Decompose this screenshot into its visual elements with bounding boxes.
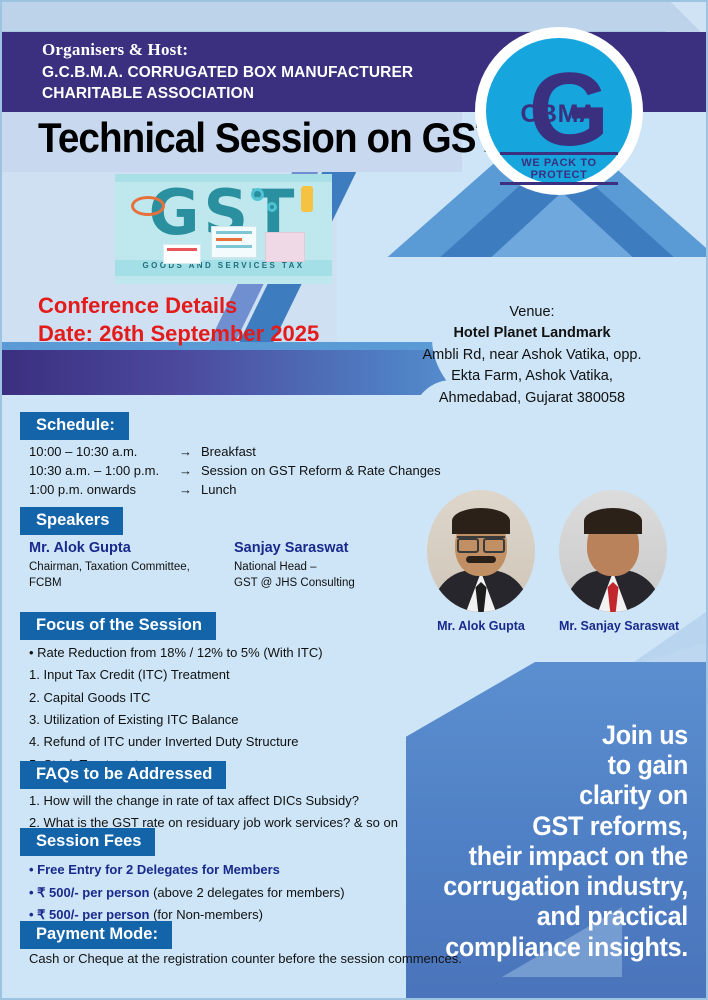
- conference-date: Date: 26th September 2025: [38, 320, 319, 348]
- fees-list: • Free Entry for 2 Delegates for Members…: [29, 859, 449, 927]
- hair-shape: [452, 508, 510, 534]
- schedule-activity: Breakfast: [201, 443, 256, 462]
- focus-list: • Rate Reduction from 18% / 12% to 5% (W…: [29, 642, 459, 776]
- schedule-row: 10:30 a.m. – 1:00 p.m. → Session on GST …: [29, 462, 489, 481]
- cta-line-3: clarity on: [437, 780, 688, 810]
- mustache-shape: [466, 556, 496, 563]
- faqs-heading: FAQs to be Addressed: [20, 761, 226, 789]
- cta-line-2: to gain: [437, 750, 688, 780]
- avatar: [559, 490, 667, 612]
- logo-disc: G CBMA WE PACK TO PROTECT: [486, 38, 632, 184]
- photo-caption: Mr. Alok Gupta: [427, 619, 535, 633]
- focus-item: 1. Input Tax Credit (ITC) Treatment: [29, 664, 459, 686]
- venue-name: Hotel Planet Landmark: [377, 323, 687, 344]
- speaker-role-line1: National Head –: [234, 559, 439, 575]
- schedule-heading: Schedule:: [20, 412, 129, 440]
- schedule-time: 10:00 – 10:30 a.m.: [29, 443, 179, 462]
- photo-icon: [265, 232, 305, 262]
- speaker-role-line2: GST @ JHS Consulting: [234, 575, 439, 591]
- speaker-photo-item: Mr. Alok Gupta: [427, 490, 535, 633]
- schedule-list: 10:00 – 10:30 a.m. → Breakfast 10:30 a.m…: [29, 443, 489, 500]
- schedule-row: 10:00 – 10:30 a.m. → Breakfast: [29, 443, 489, 462]
- schedule-time: 1:00 p.m. onwards: [29, 481, 179, 500]
- cta-line-1: Join us: [437, 720, 688, 750]
- cta-line-7: and practical: [437, 901, 688, 931]
- glasses-icon: [457, 536, 505, 547]
- focus-heading: Focus of the Session: [20, 612, 216, 640]
- cta-line-8: compliance insights.: [437, 932, 688, 962]
- cbma-logo: G CBMA WE PACK TO PROTECT: [475, 27, 643, 195]
- chart-card-icon: [211, 226, 257, 258]
- speaker-photos: Mr. Alok Gupta Mr. Sanjay Saraswat: [427, 490, 667, 633]
- venue-address-line1: Ambli Rd, near Ashok Vatika, opp.: [377, 345, 687, 366]
- speakers-heading: Speakers: [20, 507, 123, 535]
- poster-root: Organisers & Host: G.C.B.M.A. CORRUGATED…: [0, 0, 708, 1000]
- conference-details: Conference Details Date: 26th September …: [38, 292, 319, 348]
- cta-block: Join us to gain clarity on GST reforms, …: [437, 720, 688, 962]
- organisation-name-line2: CHARITABLE ASSOCIATION: [42, 84, 413, 105]
- speaker-item: Sanjay Saraswat National Head – GST @ JH…: [234, 540, 439, 592]
- fee-item-normal: (for Non-members): [149, 907, 262, 922]
- speaker-name: Mr. Alok Gupta: [29, 540, 234, 556]
- faq-item: 1. How will the change in rate of tax af…: [29, 790, 469, 812]
- cta-line-6: corrugation industry,: [437, 871, 688, 901]
- arrow-icon: →: [179, 462, 201, 481]
- schedule-time: 10:30 a.m. – 1:00 p.m.: [29, 462, 179, 481]
- venue-address-line2: Ekta Farm, Ashok Vatika,: [377, 366, 687, 387]
- speaker-photo-item: Mr. Sanjay Saraswat: [559, 490, 667, 633]
- organisers-label: Organisers & Host:: [42, 40, 413, 60]
- fee-item-bold: • Free Entry for 2 Delegates for Members: [29, 862, 280, 877]
- logo-tagline: WE PACK TO PROTECT: [500, 152, 618, 185]
- fees-heading: Session Fees: [20, 828, 155, 856]
- avatar: [427, 490, 535, 612]
- focus-item: 3. Utilization of Existing ITC Balance: [29, 709, 459, 731]
- fee-item: • Free Entry for 2 Delegates for Members: [29, 859, 449, 882]
- fee-item-bold: • ₹ 500/- per person: [29, 885, 149, 900]
- venue-address-line3: Ahmedabad, Gujarat 380058: [377, 388, 687, 409]
- speaker-item: Mr. Alok Gupta Chairman, Taxation Commit…: [29, 540, 234, 592]
- fee-item-bold: • ₹ 500/- per person: [29, 907, 149, 922]
- schedule-row: 1:00 p.m. onwards → Lunch: [29, 481, 489, 500]
- speaker-role-line1: Chairman, Taxation Committee,: [29, 559, 234, 575]
- gear-icon: [251, 188, 264, 201]
- gear-icon-small: [267, 202, 277, 212]
- arrow-icon: →: [179, 481, 201, 500]
- gst-caption: GOODS AND SERVICES TAX: [115, 261, 332, 270]
- gst-graphic: GST GOODS AND SERVICES TAX: [115, 174, 332, 284]
- note-icon: [163, 244, 201, 264]
- schedule-activity: Lunch: [201, 481, 236, 500]
- fee-item-normal: (above 2 delegates for members): [149, 885, 344, 900]
- cta-line-4: GST reforms,: [437, 811, 688, 841]
- hair-shape: [584, 508, 642, 534]
- focus-item: 2. Capital Goods ITC: [29, 687, 459, 709]
- venue-block: Venue: Hotel Planet Landmark Ambli Rd, n…: [377, 302, 687, 409]
- top-strip-corner: [666, 2, 706, 32]
- venue-label: Venue:: [377, 302, 687, 323]
- speakers-list: Mr. Alok Gupta Chairman, Taxation Commit…: [29, 540, 439, 592]
- schedule-activity: Session on GST Reform & Rate Changes: [201, 462, 441, 481]
- focus-item: 4. Refund of ITC under Inverted Duty Str…: [29, 731, 459, 753]
- gst-ring-icon: [131, 196, 165, 216]
- page-title: Technical Session on GST: [38, 114, 498, 162]
- arrow-icon: →: [179, 443, 201, 462]
- organisation-name-line1: G.C.B.M.A. CORRUGATED BOX MANUFACTURER: [42, 63, 413, 84]
- logo-acronym: CBMA: [486, 100, 632, 129]
- fee-item: • ₹ 500/- per person (above 2 delegates …: [29, 882, 449, 905]
- focus-item: • Rate Reduction from 18% / 12% to 5% (W…: [29, 642, 459, 664]
- speaker-role-line2: FCBM: [29, 575, 234, 591]
- photo-caption: Mr. Sanjay Saraswat: [559, 619, 667, 633]
- organisers-block: Organisers & Host: G.C.B.M.A. CORRUGATED…: [42, 40, 413, 105]
- bottle-icon: [301, 186, 313, 212]
- conference-heading: Conference Details: [38, 292, 319, 320]
- cta-line-5: their impact on the: [437, 841, 688, 871]
- payment-heading: Payment Mode:: [20, 921, 172, 949]
- speaker-name: Sanjay Saraswat: [234, 540, 439, 556]
